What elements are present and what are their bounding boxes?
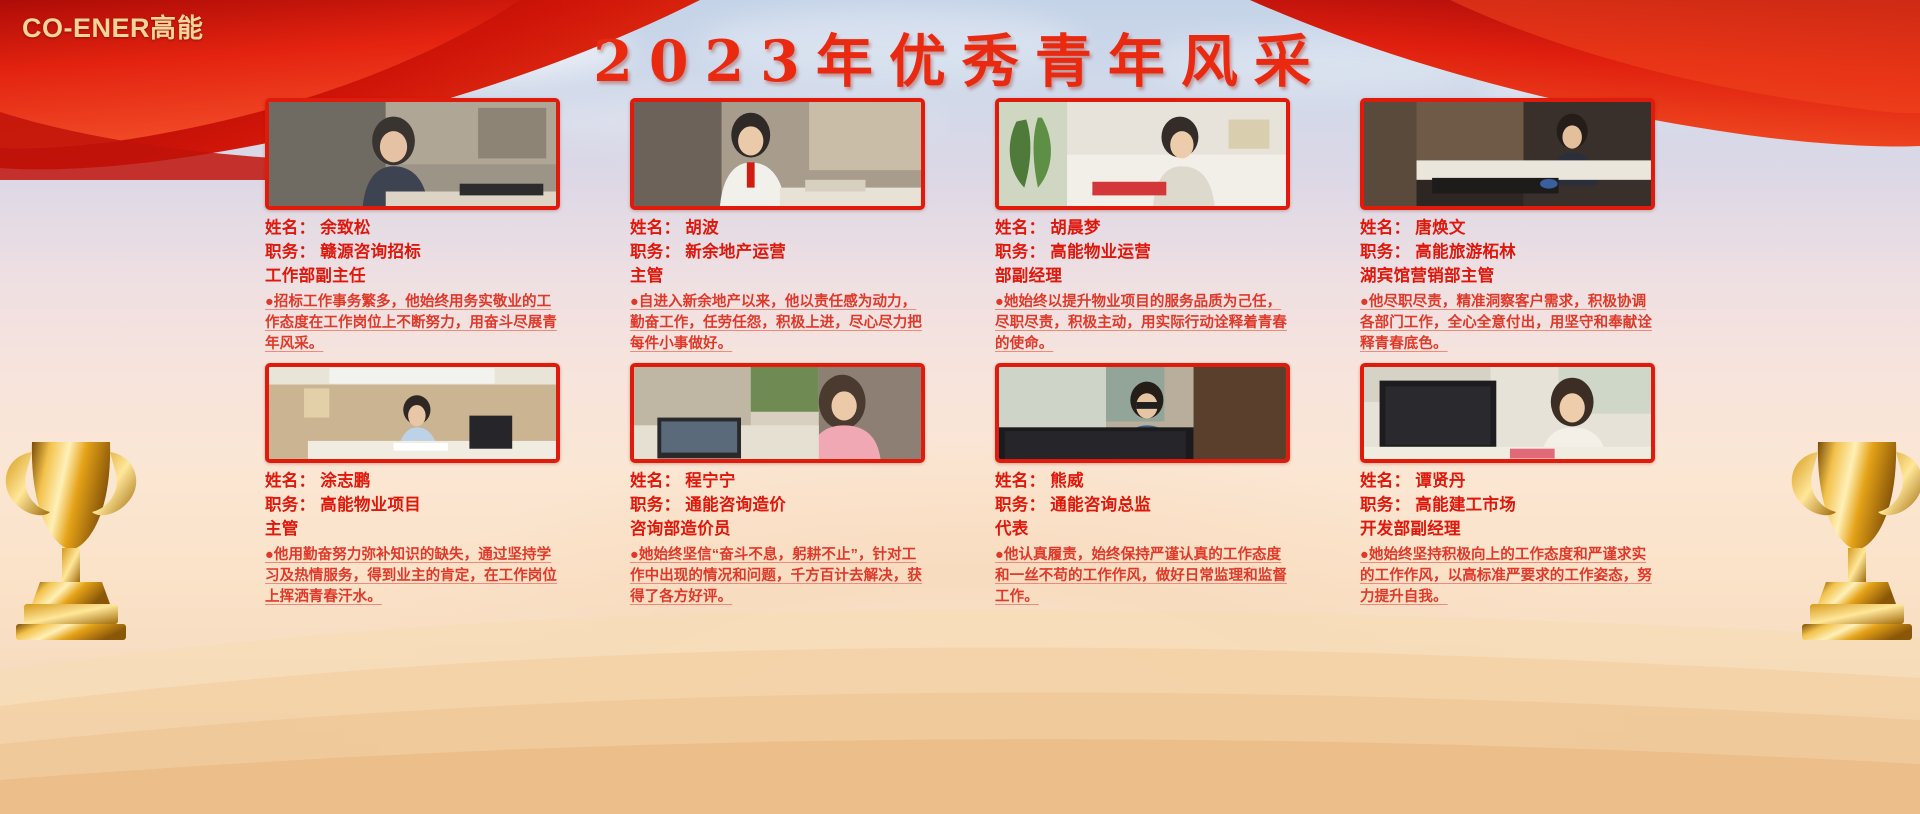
profile-meta: 姓名： 余致松 职务： 赣源咨询招标 工作部副主任 bbox=[265, 216, 560, 288]
profile-card[interactable]: 姓名： 余致松 职务： 赣源咨询招标 工作部副主任 ●招标工作事务繁多，他始终用… bbox=[265, 98, 560, 355]
page-title: 2023年优秀青年风采 bbox=[0, 16, 1920, 98]
profile-card[interactable]: 姓名： 唐焕文 职务： 高能旅游柘林 湖宾馆营销部主管 ●他尽职尽责，精准洞察客… bbox=[1360, 98, 1655, 355]
profile-name: 姓名： 涂志鹏 bbox=[265, 469, 560, 493]
profile-description: ●他认真履责，始终保持严谨认真的工作态度和一丝不苟的工作作风，做好日常监理和监督… bbox=[995, 545, 1290, 608]
profile-meta: 姓名： 程宁宁 职务： 通能咨询造价 咨询部造价员 bbox=[630, 469, 925, 541]
profile-description: ●她始终坚信“奋斗不息，躬耕不止”，针对工作中出现的情况和问题，千方百计去解决，… bbox=[630, 545, 925, 608]
profile-position-line1: 职务： 高能物业项目 bbox=[265, 493, 560, 517]
profile-meta: 姓名： 谭贤丹 职务： 高能建工市场 开发部副经理 bbox=[1360, 469, 1655, 541]
profile-card[interactable]: 姓名： 胡晨梦 职务： 高能物业运营 部副经理 ●她始终以提升物业项目的服务品质… bbox=[995, 98, 1290, 355]
profile-meta: 姓名： 涂志鹏 职务： 高能物业项目 主管 bbox=[265, 469, 560, 541]
bottom-sweep-decor bbox=[0, 574, 1920, 814]
profile-card[interactable]: 姓名： 程宁宁 职务： 通能咨询造价 咨询部造价员 ●她始终坚信“奋斗不息，躬耕… bbox=[630, 363, 925, 608]
profile-photo bbox=[265, 98, 560, 210]
profile-position-line2: 开发部副经理 bbox=[1360, 517, 1655, 541]
profile-position-line2: 工作部副主任 bbox=[265, 264, 560, 288]
profile-name: 姓名： 程宁宁 bbox=[630, 469, 925, 493]
profile-position-line1: 职务： 赣源咨询招标 bbox=[265, 240, 560, 264]
profile-position-line1: 职务： 高能建工市场 bbox=[1360, 493, 1655, 517]
brand-latin: CO-ENER bbox=[22, 13, 150, 43]
profile-name: 姓名： 熊威 bbox=[995, 469, 1290, 493]
brand-logo: CO-ENER高能 bbox=[22, 8, 204, 45]
profile-position-line1: 职务： 通能咨询总监 bbox=[995, 493, 1290, 517]
profile-description: ●他用勤奋努力弥补知识的缺失，通过坚持学习及热情服务，得到业主的肯定，在工作岗位… bbox=[265, 545, 560, 608]
profile-name: 姓名： 唐焕文 bbox=[1360, 216, 1655, 240]
profile-name: 姓名： 谭贤丹 bbox=[1360, 469, 1655, 493]
profile-name: 姓名： 余致松 bbox=[265, 216, 560, 240]
brand-chinese: 高能 bbox=[150, 13, 204, 43]
poster-board: CO-ENER高能 2023年优秀青年风采 bbox=[0, 0, 1920, 814]
profile-photo bbox=[1360, 98, 1655, 210]
profile-description: ●他尽职尽责，精准洞察客户需求，积极协调各部门工作，全心全意付出，用坚守和奉献诠… bbox=[1360, 292, 1655, 355]
profile-description: ●她始终以提升物业项目的服务品质为己任，尽职尽责，积极主动，用实际行动诠释着青春… bbox=[995, 292, 1290, 355]
profile-position-line1: 职务： 通能咨询造价 bbox=[630, 493, 925, 517]
profile-description: ●自进入新余地产以来，他以责任感为动力，勤奋工作，任劳任怨，积极上进，尽心尽力把… bbox=[630, 292, 925, 355]
profile-card[interactable]: 姓名： 胡波 职务： 新余地产运营 主管 ●自进入新余地产以来，他以责任感为动力… bbox=[630, 98, 925, 355]
profile-photo bbox=[995, 98, 1290, 210]
profile-photo bbox=[265, 363, 560, 463]
profile-meta: 姓名： 熊威 职务： 通能咨询总监 代表 bbox=[995, 469, 1290, 541]
profile-photo bbox=[630, 363, 925, 463]
profile-position-line2: 咨询部造价员 bbox=[630, 517, 925, 541]
profile-name: 姓名： 胡晨梦 bbox=[995, 216, 1290, 240]
profile-meta: 姓名： 唐焕文 职务： 高能旅游柘林 湖宾馆营销部主管 bbox=[1360, 216, 1655, 288]
profile-position-line2: 部副经理 bbox=[995, 264, 1290, 288]
profile-position-line2: 主管 bbox=[265, 517, 560, 541]
profile-photo bbox=[1360, 363, 1655, 463]
profile-description: ●招标工作事务繁多，他始终用务实敬业的工作态度在工作岗位上不断努力，用奋斗尽展青… bbox=[265, 292, 560, 355]
profile-position-line2: 代表 bbox=[995, 517, 1290, 541]
profile-card[interactable]: 姓名： 熊威 职务： 通能咨询总监 代表 ●他认真履责，始终保持严谨认真的工作态… bbox=[995, 363, 1290, 608]
profile-position-line1: 职务： 高能物业运营 bbox=[995, 240, 1290, 264]
profile-position-line2: 主管 bbox=[630, 264, 925, 288]
profile-name: 姓名： 胡波 bbox=[630, 216, 925, 240]
profile-card[interactable]: 姓名： 涂志鹏 职务： 高能物业项目 主管 ●他用勤奋努力弥补知识的缺失，通过坚… bbox=[265, 363, 560, 608]
profile-meta: 姓名： 胡晨梦 职务： 高能物业运营 部副经理 bbox=[995, 216, 1290, 288]
profile-card[interactable]: 姓名： 谭贤丹 职务： 高能建工市场 开发部副经理 ●她始终坚持积极向上的工作态… bbox=[1360, 363, 1655, 608]
profile-photo bbox=[995, 363, 1290, 463]
profile-meta: 姓名： 胡波 职务： 新余地产运营 主管 bbox=[630, 216, 925, 288]
profile-position-line1: 职务： 新余地产运营 bbox=[630, 240, 925, 264]
profile-position-line2: 湖宾馆营销部主管 bbox=[1360, 264, 1655, 288]
profile-position-line1: 职务： 高能旅游柘林 bbox=[1360, 240, 1655, 264]
profile-photo bbox=[630, 98, 925, 210]
profile-grid: 姓名： 余致松 职务： 赣源咨询招标 工作部副主任 ●招标工作事务繁多，他始终用… bbox=[0, 98, 1920, 608]
profile-description: ●她始终坚持积极向上的工作态度和严谨求实的工作作风，以高标准严要求的工作姿态，努… bbox=[1360, 545, 1655, 608]
